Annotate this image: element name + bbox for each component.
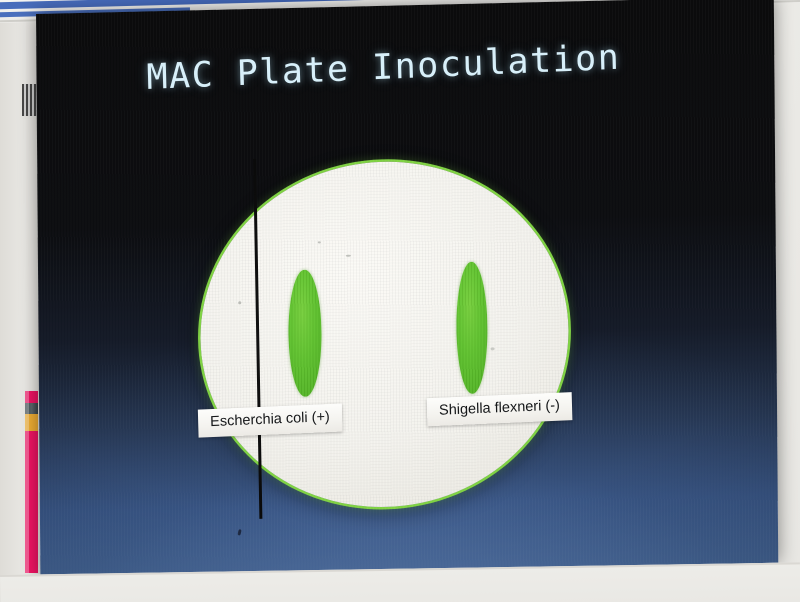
dish-speck bbox=[491, 347, 495, 350]
organism-label-right: Shigella flexneri (-) bbox=[427, 392, 573, 426]
slide-container: MAC Plate Inoculation Escherchia coli (+… bbox=[36, 14, 776, 592]
marker-spine-highlight bbox=[25, 391, 29, 573]
dish-speck bbox=[318, 241, 321, 243]
screen-photo: and_selective_media.pp MAC Plate Inocula… bbox=[0, 0, 800, 602]
dish-speck bbox=[346, 255, 351, 257]
dust-speck bbox=[237, 529, 241, 536]
dish-speck bbox=[238, 301, 241, 304]
page-title: MAC Plate Inoculation bbox=[146, 38, 621, 98]
presentation-slide[interactable]: MAC Plate Inoculation Escherchia coli (+… bbox=[36, 0, 778, 580]
